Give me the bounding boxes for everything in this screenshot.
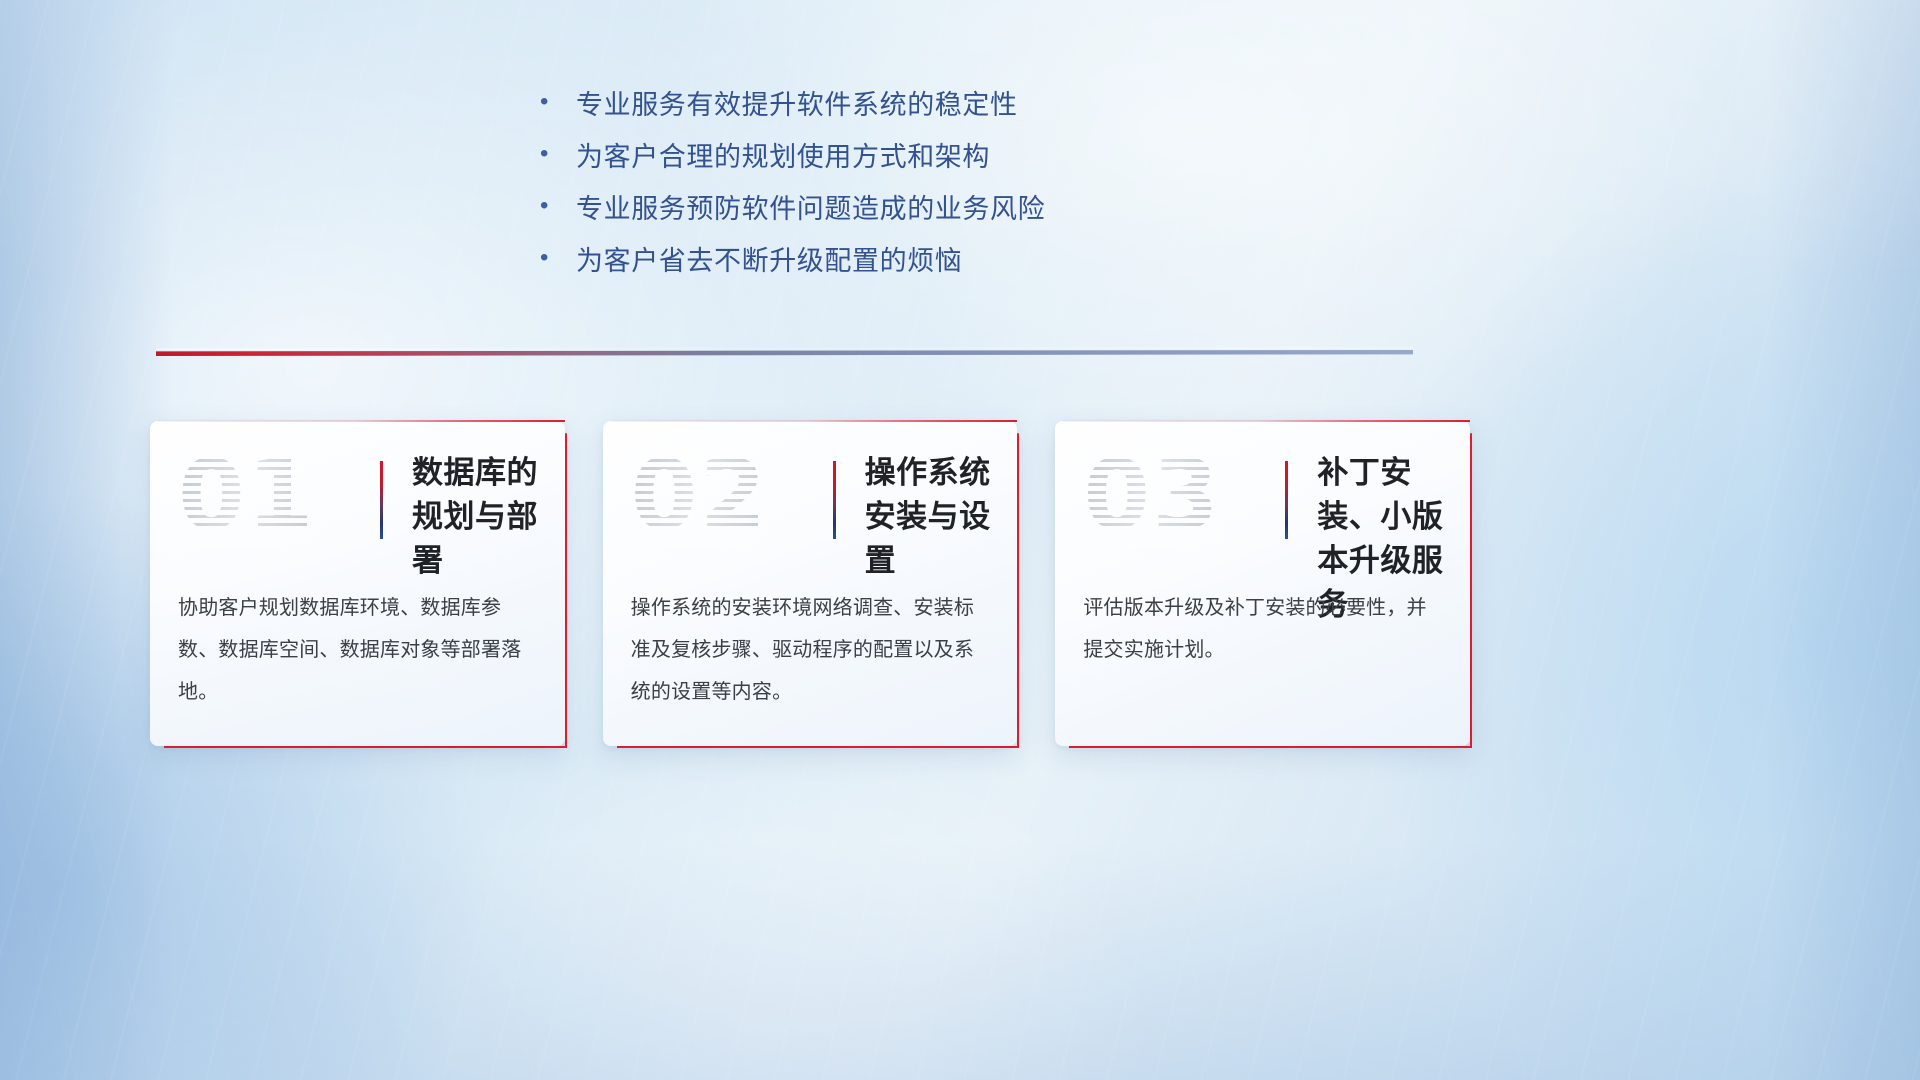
bullet-text: 专业服务预防软件问题造成的业务风险 (576, 192, 1045, 226)
service-card-01[interactable]: 01 数据库的规划与部署 协助客户规划数据库环境、数据库参数、数据库空间、数据库… (150, 421, 565, 746)
card-title-divider (380, 461, 383, 539)
bullet-text: 为客户省去不断升级配置的烦恼 (576, 244, 962, 278)
card-title-divider (1285, 461, 1288, 539)
bullet-dot-icon: • (540, 244, 576, 270)
card-number: 03 (1083, 443, 1221, 547)
list-item: • 为客户合理的规划使用方式和架构 (540, 140, 1280, 192)
bullet-dot-icon: • (540, 192, 576, 218)
card-header: 03 补丁安装、小版本升级服务 (1055, 421, 1470, 573)
card-bottom-accent (617, 746, 1020, 748)
card-number: 02 (631, 443, 769, 547)
bullet-text: 为客户合理的规划使用方式和架构 (576, 140, 990, 174)
list-item: • 为客户省去不断升级配置的烦恼 (540, 244, 1280, 296)
section-divider (156, 347, 1413, 360)
card-body-text: 操作系统的安装环境网络调查、安装标准及复核步骤、驱动程序的配置以及系统的设置等内… (631, 587, 994, 713)
card-title-divider (833, 461, 836, 539)
divider-gradient-bar (156, 350, 1413, 356)
card-body-text: 评估版本升级及补丁安装的必要性，并提交实施计划。 (1083, 587, 1446, 671)
bullet-dot-icon: • (540, 88, 576, 114)
card-right-accent (1017, 433, 1019, 748)
card-header: 01 数据库的规划与部署 (150, 421, 565, 573)
card-bottom-accent (1069, 746, 1472, 748)
benefits-bullet-list: • 专业服务有效提升软件系统的稳定性 • 为客户合理的规划使用方式和架构 • 专… (540, 88, 1280, 296)
divider-highlight (156, 347, 1413, 350)
card-right-accent (1470, 433, 1472, 748)
list-item: • 专业服务有效提升软件系统的稳定性 (540, 88, 1280, 140)
bullet-dot-icon: • (540, 140, 576, 166)
card-title: 数据库的规划与部署 (412, 451, 551, 583)
card-right-accent (565, 433, 567, 748)
card-body-text: 协助客户规划数据库环境、数据库参数、数据库空间、数据库对象等部署落地。 (178, 587, 541, 713)
service-card-02[interactable]: 02 操作系统安装与设置 操作系统的安装环境网络调查、安装标准及复核步骤、驱动程… (603, 421, 1018, 746)
card-title: 操作系统安装与设置 (865, 451, 1004, 583)
card-bottom-accent (164, 746, 567, 748)
card-number: 01 (178, 443, 316, 547)
card-header: 02 操作系统安装与设置 (603, 421, 1018, 573)
service-card-row: 01 数据库的规划与部署 协助客户规划数据库环境、数据库参数、数据库空间、数据库… (150, 421, 1470, 746)
bullet-text: 专业服务有效提升软件系统的稳定性 (576, 88, 1018, 122)
list-item: • 专业服务预防软件问题造成的业务风险 (540, 192, 1280, 244)
service-card-03[interactable]: 03 补丁安装、小版本升级服务 评估版本升级及补丁安装的必要性，并提交实施计划。 (1055, 421, 1470, 746)
